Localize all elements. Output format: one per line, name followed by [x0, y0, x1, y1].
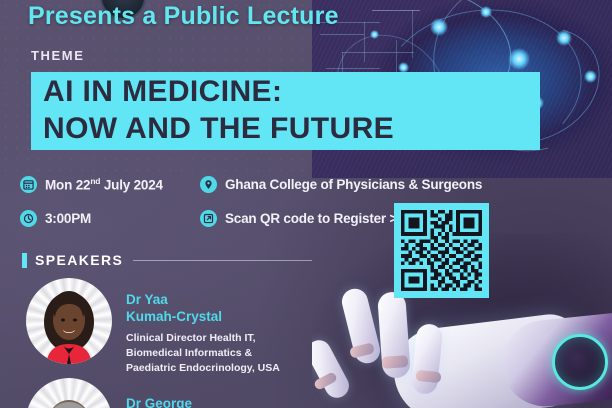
speaker-role-line-1: Clinical Director Health IT,: [126, 331, 280, 346]
speaker-info: Dr George: [126, 378, 192, 408]
event-venue-text: Ghana College of Physicians & Surgeons: [225, 177, 482, 192]
speaker-name-line-2: Kumah-Crystal: [126, 309, 280, 326]
speaker-card: Dr George: [26, 378, 192, 408]
event-time: 3:00PM: [20, 210, 200, 227]
avatar: [26, 278, 112, 364]
lecture-title-band: AI IN MEDICINE: NOW AND THE FUTURE: [31, 72, 540, 150]
register-cta-text: Scan QR code to Register >>>: [225, 211, 413, 226]
speakers-heading-rule: [133, 260, 312, 261]
theme-label: THEME: [31, 48, 85, 63]
speaker-portrait: [26, 278, 112, 364]
speaker-role-line-3: Paediatric Endocrinology, USA: [126, 361, 280, 376]
event-date-text: Mon 22nd July 2024: [45, 176, 163, 193]
speaker-info: Dr Yaa Kumah-Crystal Clinical Director H…: [126, 278, 280, 375]
speakers-heading: SPEAKERS: [22, 252, 312, 268]
avatar: [26, 378, 112, 408]
qr-register-icon: [200, 210, 217, 227]
lecture-poster: Presents a Public Lecture THEME AI IN ME…: [0, 0, 612, 408]
event-date: Mon 22nd July 2024: [20, 176, 200, 193]
speakers-heading-text: SPEAKERS: [35, 252, 123, 268]
speaker-portrait: [26, 378, 112, 408]
speaker-name-line-1: Dr George: [126, 396, 192, 408]
title-line-1: AI IN MEDICINE:: [43, 74, 540, 111]
qr-code[interactable]: [394, 203, 489, 298]
details-row-1: Mon 22nd July 2024 Ghana College of Phys…: [20, 170, 490, 198]
event-time-text: 3:00PM: [45, 211, 91, 226]
register-cta[interactable]: Scan QR code to Register >>>: [200, 210, 413, 227]
qr-code-svg: [401, 210, 482, 291]
speaker-card: Dr Yaa Kumah-Crystal Clinical Director H…: [26, 278, 280, 375]
location-pin-icon: [200, 176, 217, 193]
event-venue: Ghana College of Physicians & Surgeons: [200, 176, 482, 193]
clock-icon: [20, 210, 37, 227]
title-line-2: NOW AND THE FUTURE: [43, 111, 540, 148]
speakers-heading-bar: [22, 253, 27, 268]
speaker-role-line-2: Biomedical Informatics &: [126, 346, 280, 361]
speaker-name-line-1: Dr Yaa: [126, 292, 280, 309]
calendar-icon: [20, 176, 37, 193]
presents-heading: Presents a Public Lecture: [28, 2, 339, 31]
